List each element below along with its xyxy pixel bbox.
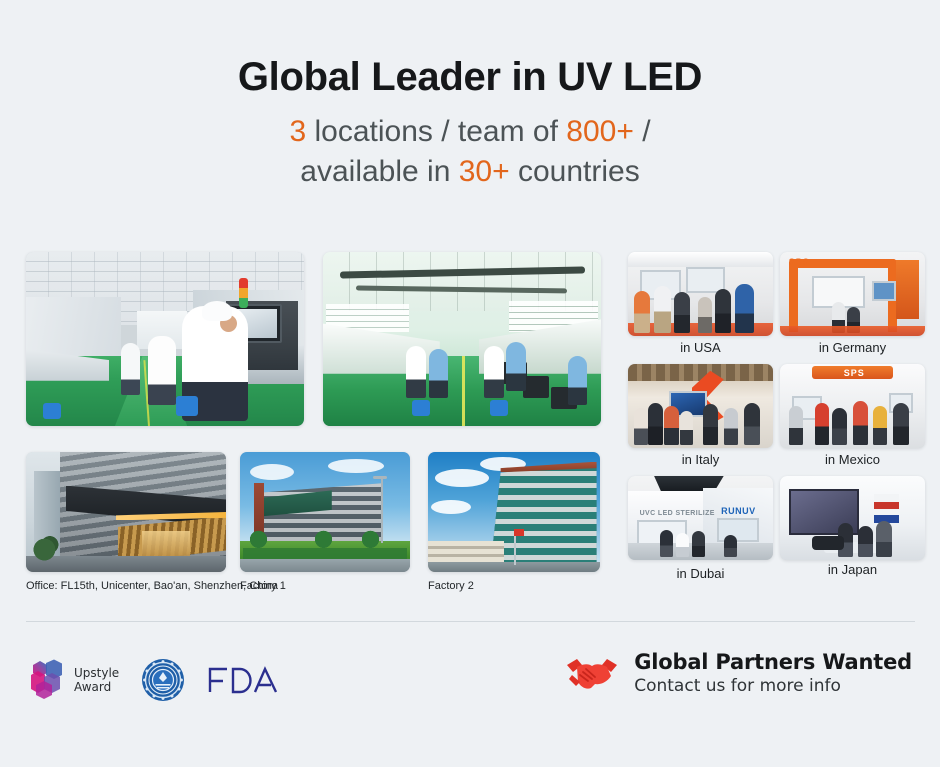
- street-lamp: [381, 476, 383, 543]
- worker-mid: [148, 336, 176, 406]
- stool-far: [43, 403, 61, 419]
- visitor: [873, 406, 888, 445]
- tree: [362, 522, 379, 551]
- worker-far: [121, 343, 140, 395]
- visitor: [674, 292, 690, 332]
- visitor: [853, 401, 869, 445]
- booth-display: [717, 518, 759, 542]
- worker: [429, 349, 448, 398]
- foreground-object: [812, 536, 844, 549]
- upstyle-line-2: Award: [74, 680, 119, 694]
- heading-block: Global Leader in UV LED 3 locations / te…: [0, 56, 940, 192]
- booth-logo: SPS: [844, 368, 865, 378]
- promo-banner: Global Leader in UV LED 3 locations / te…: [0, 0, 940, 767]
- stat-team-value: 800+: [566, 115, 634, 148]
- crate: [523, 376, 549, 398]
- partners-title: Global Partners Wanted: [634, 650, 912, 675]
- worker: [568, 356, 587, 405]
- factory-2-photo: [428, 452, 600, 572]
- booth-monitor: [872, 281, 896, 302]
- factory-1-photo: [240, 452, 410, 572]
- visitor: [832, 408, 847, 445]
- cloud: [250, 464, 294, 480]
- factory-interior-photo-b: [323, 252, 601, 426]
- road: [240, 559, 410, 572]
- stool: [176, 396, 198, 416]
- factory-2-caption: Factory 2: [428, 580, 474, 592]
- exhibition-photo-usa: [628, 252, 773, 336]
- national-seal-icon: [141, 658, 185, 702]
- exhibition-photo-japan: [780, 476, 925, 560]
- stat-countries-value: 30+: [459, 155, 510, 188]
- tree: [250, 522, 267, 551]
- stat-locations-value: 3: [289, 115, 306, 148]
- visitor: [676, 533, 689, 557]
- exhibition-caption-dubai: in Dubai: [628, 566, 773, 650]
- visitor: [893, 403, 909, 445]
- handshake-icon: [564, 651, 620, 695]
- partners-subtitle: Contact us for more info: [634, 676, 912, 696]
- booth-logo: SPS: [789, 257, 810, 267]
- subtitle-line2-pre: available in: [300, 155, 458, 188]
- exhibition-photo-dubai: UVC LED STERILIZE RUNUV: [628, 476, 773, 560]
- visitor: [634, 408, 649, 445]
- booth-wall-text: UVC LED STERILIZE: [640, 510, 715, 517]
- worker-cap: [202, 301, 232, 321]
- signal-tower: [239, 278, 248, 308]
- tree: [30, 531, 62, 562]
- visitor: [664, 406, 679, 445]
- exhibition-photo-germany: SPS: [780, 252, 925, 336]
- visitor: [858, 526, 873, 556]
- booth-banner: [874, 494, 899, 523]
- partners-text-block: Global Partners Wanted Contact us for mo…: [634, 650, 912, 696]
- certification-logos: Upstyle Award: [26, 648, 279, 712]
- exhibition-caption-japan: in Japan: [780, 562, 925, 646]
- booth-ceiling: [628, 252, 773, 267]
- visitor: [876, 521, 892, 556]
- flag: [514, 529, 524, 536]
- visitor: [654, 286, 671, 333]
- visitor: [735, 284, 754, 333]
- visitor: [724, 535, 737, 557]
- factory-1-caption: Factory 1: [240, 580, 286, 592]
- upstyle-award-icon: [26, 659, 66, 701]
- section-divider: [26, 621, 915, 622]
- stool: [490, 400, 508, 416]
- visitor: [703, 404, 718, 444]
- cert-fda: [207, 665, 279, 695]
- visitor: [698, 297, 713, 332]
- visitor: [815, 403, 830, 445]
- cloud: [435, 469, 489, 487]
- building-tower: [490, 464, 597, 572]
- global-partners-cta[interactable]: Global Partners Wanted Contact us for mo…: [564, 650, 912, 696]
- tree: [315, 522, 332, 551]
- visitor: [634, 291, 650, 333]
- exhibition-photo-mexico: SPS: [780, 364, 925, 448]
- exhibition-photo-italy: [628, 364, 773, 448]
- visitor: [660, 530, 673, 557]
- floor-line: [462, 356, 465, 426]
- visitor: [648, 403, 663, 445]
- cert-national-seal: [141, 658, 185, 702]
- booth-column: [896, 260, 919, 319]
- visitor: [692, 531, 705, 556]
- subtitle-mid-1: locations / team of: [306, 115, 566, 148]
- visitor: [680, 411, 693, 445]
- visitor: [744, 403, 760, 445]
- upstyle-line-1: Upstyle: [74, 666, 119, 680]
- subtitle-line2-post: countries: [510, 155, 640, 188]
- stool: [412, 400, 430, 416]
- upstyle-award-label: Upstyle Award: [74, 666, 119, 695]
- worker: [506, 342, 525, 391]
- visitor: [724, 408, 739, 445]
- office-building-photo: [26, 452, 226, 572]
- ceiling-beams: [628, 364, 773, 381]
- fda-icon: [207, 665, 279, 695]
- stats-subtitle: 3 locations / team of 800+ / available i…: [0, 112, 940, 192]
- visitor: [715, 289, 731, 333]
- visitor: [789, 406, 804, 445]
- booth-counter: [780, 326, 925, 336]
- page-title: Global Leader in UV LED: [0, 56, 940, 98]
- worker: [484, 346, 503, 398]
- booth-brand-logo: RUNUV: [721, 506, 756, 516]
- subtitle-mid-2: /: [634, 115, 651, 148]
- factory-interior-photo-a: [26, 252, 304, 426]
- cert-upstyle-award: Upstyle Award: [26, 659, 119, 701]
- worker: [406, 346, 425, 398]
